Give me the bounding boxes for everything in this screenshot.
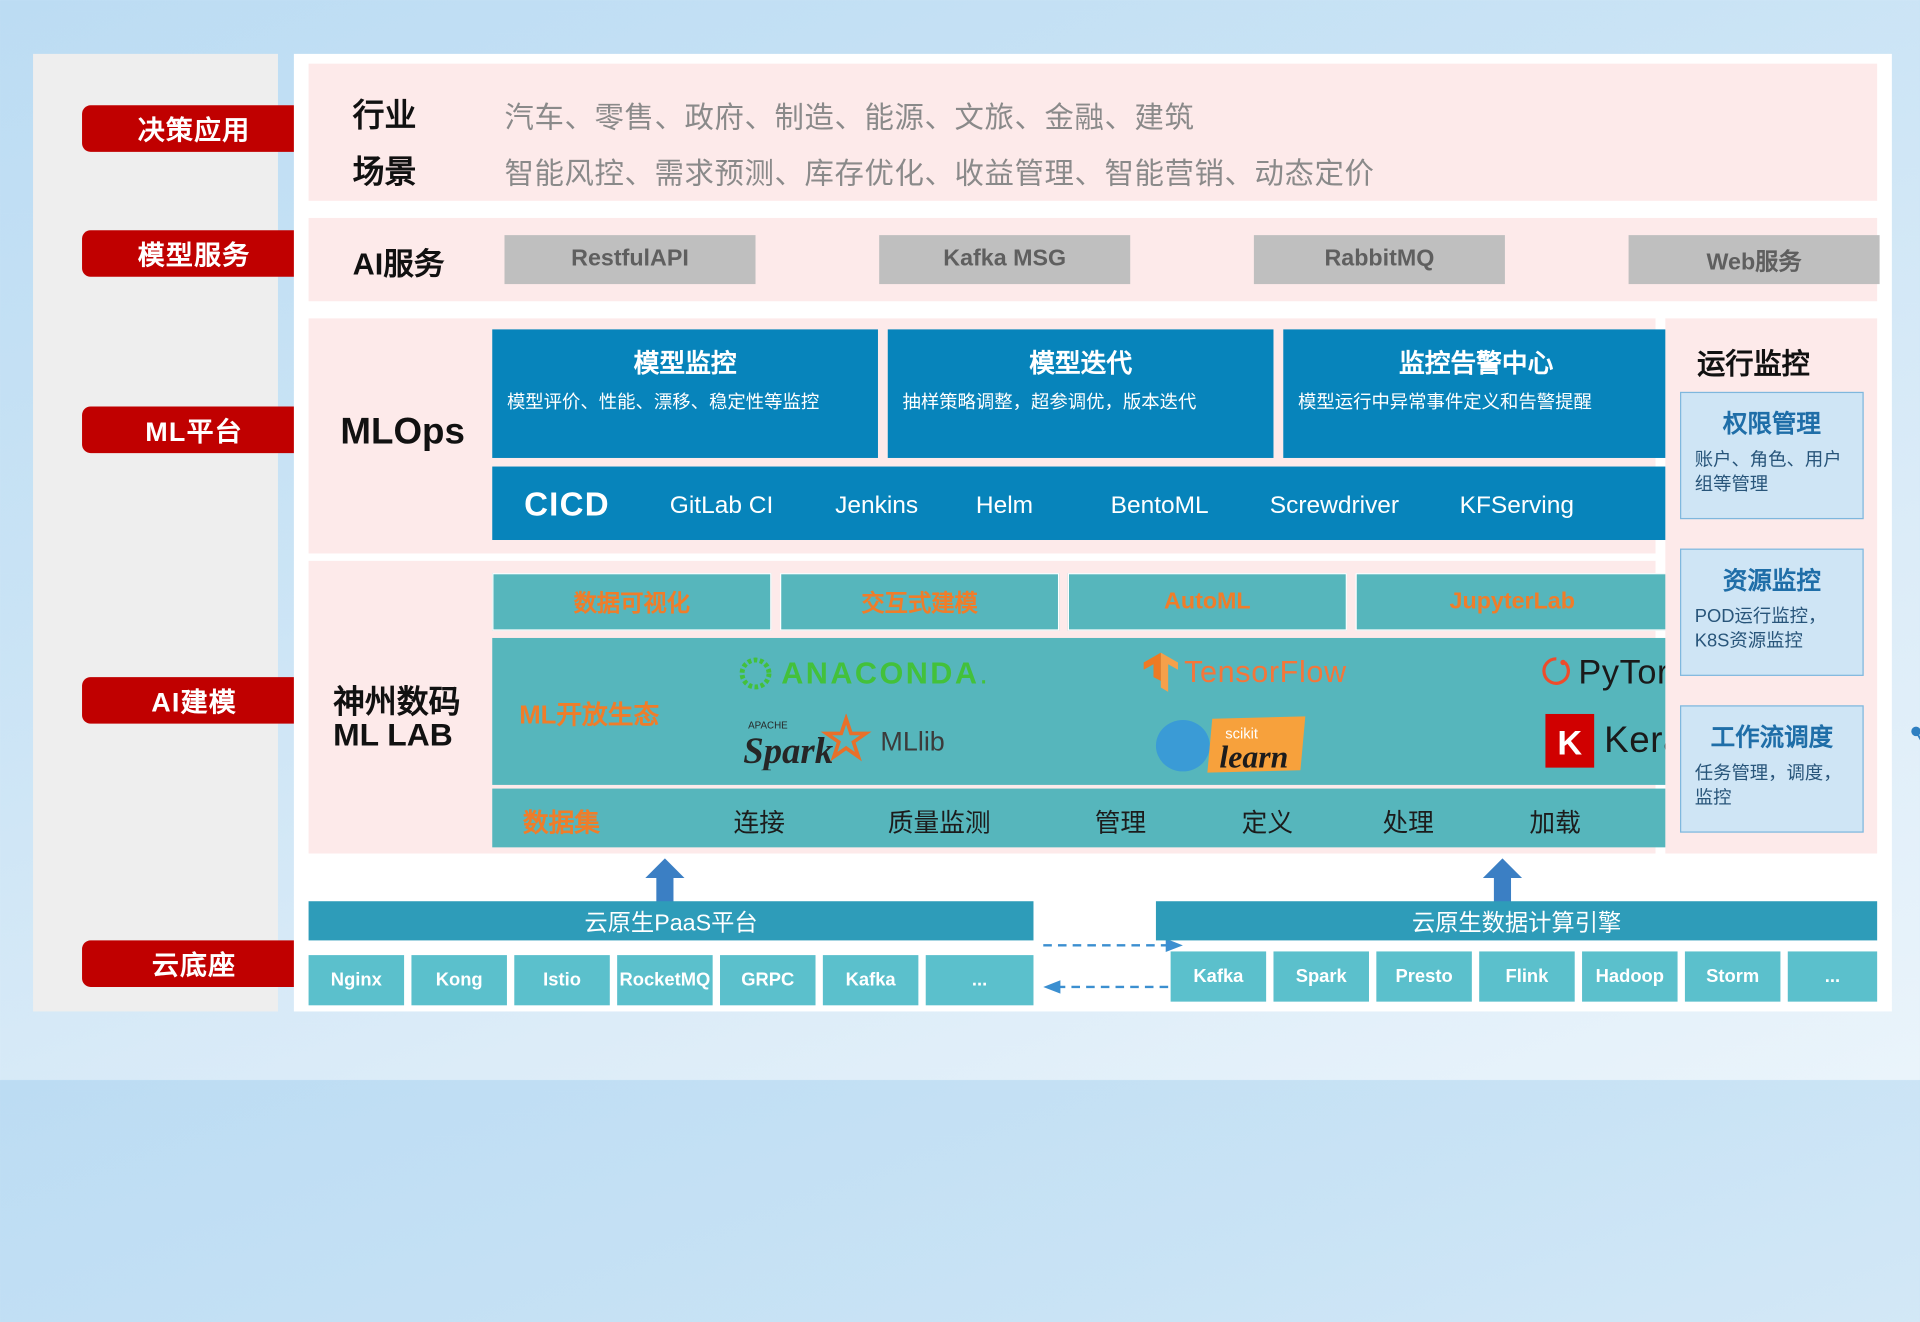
scenario-label: 场景	[353, 147, 417, 192]
arrow-up-data-engine	[1482, 858, 1524, 902]
cicd-item-helm[interactable]: Helm	[976, 490, 1089, 522]
mlops-card-model-iteration[interactable]: 模型迭代 抽样策略调整，超参调优，版本迭代	[888, 329, 1274, 458]
dataset-item-load[interactable]: 加载	[1502, 803, 1607, 840]
card-desc: 任务管理，调度，监控	[1695, 762, 1849, 811]
ml-ecosystem-block: ML开放生态 ANACONDA . TensorFlow	[492, 638, 1669, 785]
spark-mllib-logo: APACHE Spark MLlib	[743, 714, 945, 770]
paas-chip-rocketmq[interactable]: RocketMQ	[617, 955, 713, 1005]
modeling-tab-interactive[interactable]: 交互式建模	[780, 573, 1059, 631]
anaconda-logo: ANACONDA .	[737, 655, 988, 692]
card-title: 资源监控	[1681, 561, 1862, 597]
cicd-label: CICD	[524, 486, 610, 524]
data-chip-hadoop[interactable]: Hadoop	[1582, 951, 1678, 1001]
paas-chip-more[interactable]: ...	[926, 955, 1034, 1005]
dashed-connectors	[1041, 933, 1185, 1002]
ai-service-button-kafka-msg[interactable]: Kafka MSG	[879, 235, 1130, 284]
card-desc: POD运行监控，K8S资源监控	[1695, 605, 1849, 654]
dataset-item-connect[interactable]: 连接	[707, 803, 812, 840]
cicd-item-jenkins[interactable]: Jenkins	[835, 490, 948, 522]
left-rail: 决策应用 模型服务 ML平台 AI建模 云底座	[33, 54, 278, 1012]
dataset-item-define[interactable]: 定义	[1215, 803, 1320, 840]
arrow-up-paas	[644, 858, 686, 902]
data-chip-presto[interactable]: Presto	[1376, 951, 1472, 1001]
card-desc: 模型评价、性能、漂移、稳定性等监控	[507, 391, 863, 415]
anaconda-icon	[737, 655, 774, 692]
sidebar-item-model-service[interactable]: 模型服务	[82, 230, 306, 277]
main-panel: 行业 汽车、零售、政府、制造、能源、文旅、金融、建筑 场景 智能风控、需求预测、…	[294, 54, 1892, 1012]
dataset-item-process[interactable]: 处理	[1356, 803, 1461, 840]
modeling-tab-jupyterlab[interactable]: JupyterLab	[1356, 573, 1669, 631]
monitor-title: 运行监控	[1697, 340, 1810, 382]
cicd-item-bentoml[interactable]: BentoML	[1111, 490, 1224, 522]
dataset-label: 数据集	[523, 803, 600, 840]
tensorflow-logo: TensorFlow	[1141, 650, 1347, 694]
cicd-item-kfserving[interactable]: KFServing	[1460, 490, 1573, 522]
industry-band: 行业 汽车、零售、政府、制造、能源、文旅、金融、建筑 场景 智能风控、需求预测、…	[309, 64, 1878, 201]
sidebar-item-ai-modeling[interactable]: AI建模	[82, 677, 306, 724]
industry-label: 行业	[353, 91, 417, 136]
svg-text:learn: learn	[1219, 740, 1288, 775]
paas-chip-istio[interactable]: Istio	[514, 955, 610, 1005]
arrow-up-icon	[644, 858, 686, 902]
data-chip-flink[interactable]: Flink	[1479, 951, 1575, 1001]
pytorch-icon	[1539, 654, 1573, 691]
sidebar-item-ml-platform[interactable]: ML平台	[82, 407, 306, 454]
paas-chip-kafka[interactable]: Kafka	[823, 955, 919, 1005]
paas-bar: 云原生PaaS平台	[309, 901, 1034, 940]
data-chip-kafka[interactable]: Kafka	[1171, 951, 1267, 1001]
paas-chip-grpc[interactable]: GRPC	[720, 955, 816, 1005]
data-chip-spark[interactable]: Spark	[1273, 951, 1369, 1001]
mlops-band: MLOps 模型监控 模型评价、性能、漂移、稳定性等监控 模型迭代 抽样策略调整…	[309, 318, 1656, 553]
paas-chip-kong[interactable]: Kong	[411, 955, 507, 1005]
ml-ecosystem-label: ML开放生态	[519, 696, 659, 733]
mlops-card-alert-center[interactable]: 监控告警中心 模型运行中异常事件定义和告警提醒	[1283, 329, 1669, 458]
card-title: 监控告警中心	[1283, 344, 1669, 381]
diagram-stage: 决策应用 模型服务 ML平台 AI建模 云底座 行业 汽车、零售、政府、制造、能…	[0, 0, 1920, 1322]
monitor-card-resources[interactable]: 资源监控 POD运行监控，K8S资源监控	[1680, 549, 1864, 676]
ai-service-band: AI服务 RestfulAPI Kafka MSG RabbitMQ Web服务	[309, 218, 1878, 301]
networkx-logo: NetworkX Network Analysis in Python	[1907, 716, 1920, 766]
data-chip-more[interactable]: ...	[1788, 951, 1877, 1001]
modeling-tab-automl[interactable]: AutoML	[1068, 573, 1347, 631]
networkx-icon	[1907, 718, 1920, 765]
modeling-tab-dataviz[interactable]: 数据可视化	[492, 573, 771, 631]
card-title: 权限管理	[1681, 404, 1862, 440]
card-desc: 账户、角色、用户组等管理	[1695, 448, 1849, 497]
card-title: 工作流调度	[1681, 718, 1862, 754]
card-title: 模型监控	[492, 344, 878, 381]
ai-service-button-web-service[interactable]: Web服务	[1629, 235, 1880, 284]
dataset-row: 数据集 连接 质量监测 管理 定义 处理 加载	[492, 789, 1669, 848]
svg-text:K: K	[1557, 724, 1582, 762]
card-desc: 抽样策略调整，超参调优，版本迭代	[902, 391, 1258, 415]
mlops-card-model-monitor[interactable]: 模型监控 模型评价、性能、漂移、稳定性等监控	[492, 329, 878, 458]
scenario-value: 智能风控、需求预测、库存优化、收益管理、智能营销、动态定价	[504, 149, 1374, 192]
mllab-label-line2: ML LAB	[333, 716, 453, 754]
monitor-card-workflow[interactable]: 工作流调度 任务管理，调度，监控	[1680, 705, 1864, 832]
dataset-item-manage[interactable]: 管理	[1068, 803, 1173, 840]
monitor-card-permissions[interactable]: 权限管理 账户、角色、用户组等管理	[1680, 392, 1864, 519]
data-chip-storm[interactable]: Storm	[1685, 951, 1781, 1001]
cicd-item-gitlab[interactable]: GitLab CI	[670, 490, 783, 522]
svg-text:Spark: Spark	[743, 730, 833, 770]
ai-modeling-band: 神州数码 ML LAB 数据可视化 交互式建模 AutoML JupyterLa…	[309, 561, 1656, 854]
spark-icon: APACHE Spark	[743, 714, 875, 770]
arrow-up-icon	[1482, 858, 1524, 902]
ai-service-label: AI服务	[353, 240, 445, 284]
industry-value: 汽车、零售、政府、制造、能源、文旅、金融、建筑	[504, 93, 1194, 136]
sidebar-item-decision[interactable]: 决策应用	[82, 105, 306, 152]
card-title: 模型迭代	[888, 344, 1274, 381]
keras-icon: K	[1545, 714, 1594, 768]
scikit-learn-icon: scikit learn	[1153, 711, 1312, 775]
sidebar-item-cloud-base[interactable]: 云底座	[82, 940, 306, 987]
mlops-label: MLOps	[340, 411, 464, 453]
cicd-strip: CICD GitLab CI Jenkins Helm BentoML Scre…	[492, 467, 1669, 540]
data-engine-bar: 云原生数据计算引擎	[1156, 901, 1877, 940]
ai-service-button-restfulapi[interactable]: RestfulAPI	[504, 235, 755, 284]
paas-chip-nginx[interactable]: Nginx	[309, 955, 405, 1005]
card-desc: 模型运行中异常事件定义和告警提醒	[1298, 391, 1654, 415]
tensorflow-icon	[1141, 650, 1180, 694]
cicd-item-screwdriver[interactable]: Screwdriver	[1270, 490, 1383, 522]
scikit-learn-logo: scikit learn	[1153, 711, 1312, 775]
ai-service-button-rabbitmq[interactable]: RabbitMQ	[1254, 235, 1505, 284]
monitor-column: 运行监控 权限管理 账户、角色、用户组等管理 资源监控 POD运行监控，K8S资…	[1665, 318, 1877, 853]
dataset-item-quality[interactable]: 质量监测	[866, 803, 1013, 840]
